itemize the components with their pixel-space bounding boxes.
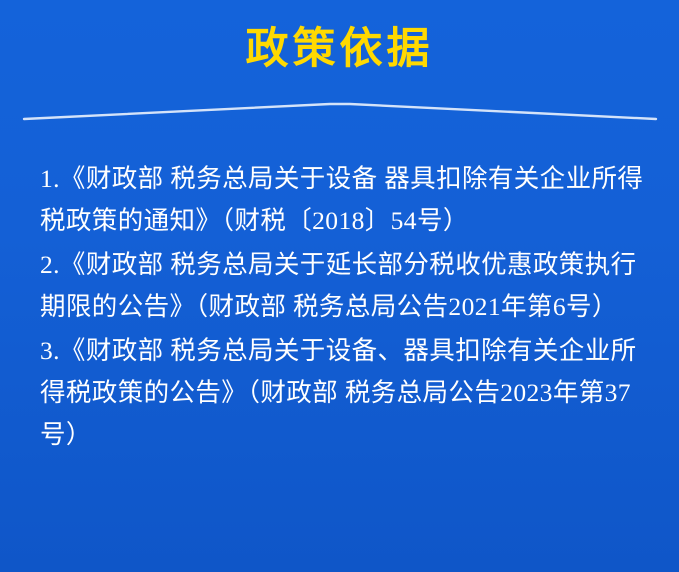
- policy-item: 3.《财政部 税务总局关于设备、器具扣除有关企业所得税政策的公告》（财政部 税务…: [40, 330, 648, 456]
- policy-item: 2.《财政部 税务总局关于延长部分税收优惠政策执行期限的公告》（财政部 税务总局…: [40, 244, 648, 328]
- page-title: 政策依据: [246, 26, 434, 73]
- policy-list: 1.《财政部 税务总局关于设备 器具扣除有关企业所得税政策的通知》（财税〔201…: [40, 158, 648, 458]
- policy-item: 1.《财政部 税务总局关于设备 器具扣除有关企业所得税政策的通知》（财税〔201…: [40, 158, 648, 242]
- policy-basis-slide: 政策依据 1.《财政部 税务总局关于设备 器具扣除有关企业所得税政策的通知》（财…: [0, 0, 679, 572]
- slide-title-container: 政策依据: [0, 26, 679, 73]
- title-divider: [0, 100, 679, 124]
